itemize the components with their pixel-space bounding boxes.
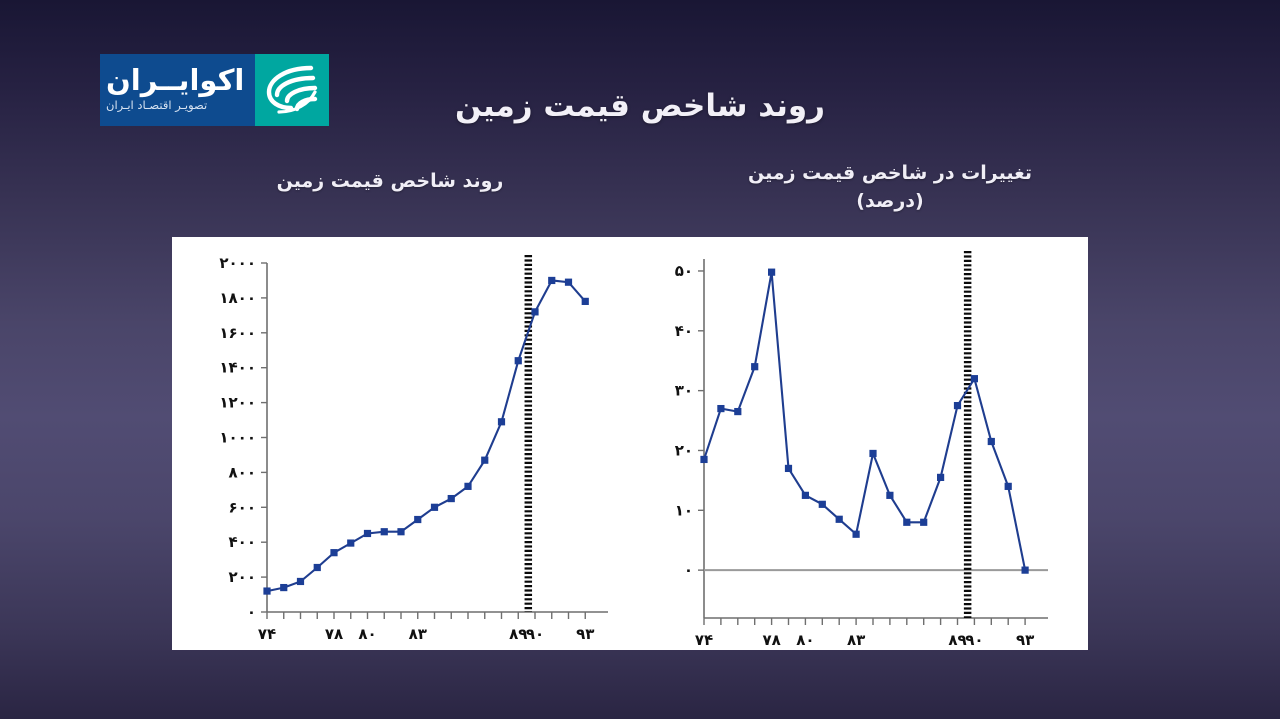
series-data-point <box>1005 483 1012 490</box>
y-tick-label: ۳۰ <box>675 382 693 400</box>
series-data-point <box>988 438 995 445</box>
x-tick-label: ۹۰ <box>965 631 983 649</box>
right-chart-title-line2: (درصد) <box>700 188 1080 216</box>
x-tick-label: ۸۰ <box>358 625 376 643</box>
series-data-point <box>397 528 404 535</box>
series-data-point <box>869 450 876 457</box>
series-data-point <box>751 363 758 370</box>
series-data-point <box>819 501 826 508</box>
series-data-point <box>886 492 893 499</box>
x-tick-label: ۷۴ <box>258 625 276 643</box>
series-line <box>704 272 1025 570</box>
y-tick-label: ۱۸۰۰ <box>219 289 256 307</box>
series-data-point <box>531 308 538 315</box>
y-tick-label: ۵۰ <box>675 262 693 280</box>
series-data-point <box>971 375 978 382</box>
x-tick-label: ۷۸ <box>762 631 780 649</box>
series-data-point <box>280 584 287 591</box>
y-tick-label: ۲۰۰۰ <box>219 254 256 272</box>
series-data-point <box>297 578 304 585</box>
y-tick-label: ۸۰۰ <box>229 463 256 481</box>
right-chart-title: تغییرات در شاخص قیمت زمین (درصد) <box>700 160 1080 215</box>
left-plot-svg: ۰۲۰۰۴۰۰۶۰۰۸۰۰۱۰۰۰۱۲۰۰۱۴۰۰۱۶۰۰۱۸۰۰۲۰۰۰۷۴۷… <box>172 237 642 650</box>
chart-land-price-index-change: ۰۱۰۲۰۳۰۴۰۵۰۷۴۷۸۸۰۸۳۸۹۹۰۹۳ <box>642 237 1088 650</box>
x-tick-label: ۷۴ <box>695 631 713 649</box>
series-data-point <box>768 269 775 276</box>
series-data-point <box>903 519 910 526</box>
series-data-point <box>364 530 371 537</box>
series-data-point <box>464 483 471 490</box>
series-data-point <box>381 528 388 535</box>
page-title: روند شاخص قیمت زمین <box>0 88 1280 124</box>
y-tick-label: ۱۴۰۰ <box>219 359 256 377</box>
series-data-point <box>1022 567 1029 574</box>
series-data-point <box>414 516 421 523</box>
series-data-point <box>330 549 337 556</box>
series-data-point <box>448 495 455 502</box>
x-tick-label: ۸۳ <box>847 631 865 649</box>
series-data-point <box>785 465 792 472</box>
y-tick-label: ۰ <box>684 561 693 579</box>
series-data-point <box>565 279 572 286</box>
series-data-point <box>920 519 927 526</box>
y-tick-label: ۴۰ <box>675 322 693 340</box>
x-tick-label: ۹۳ <box>576 625 594 643</box>
right-chart-title-line1: تغییرات در شاخص قیمت زمین <box>700 160 1080 188</box>
series-data-point <box>515 357 522 364</box>
x-tick-label: ۹۳ <box>1016 631 1034 649</box>
series-data-point <box>347 539 354 546</box>
series-data-point <box>548 277 555 284</box>
right-plot-svg: ۰۱۰۲۰۳۰۴۰۵۰۷۴۷۸۸۰۸۳۸۹۹۰۹۳ <box>642 237 1088 650</box>
x-tick-label: ۸۳ <box>409 625 427 643</box>
series-data-point <box>263 587 270 594</box>
series-data-point <box>481 457 488 464</box>
series-data-point <box>314 564 321 571</box>
y-tick-label: ۱۰۰۰ <box>219 429 256 447</box>
series-data-point <box>734 408 741 415</box>
x-tick-label: ۸۹ <box>509 625 527 643</box>
y-tick-label: ۱۲۰۰ <box>219 394 256 412</box>
y-tick-label: ۲۰ <box>675 441 693 459</box>
series-line <box>267 280 585 591</box>
x-tick-label: ۸۰ <box>796 631 814 649</box>
series-data-point <box>431 504 438 511</box>
x-tick-label: ۸۹ <box>948 631 966 649</box>
y-tick-label: ۰ <box>247 603 256 621</box>
series-data-point <box>582 298 589 305</box>
y-tick-label: ۶۰۰ <box>229 498 256 516</box>
series-data-point <box>802 492 809 499</box>
series-data-point <box>717 405 724 412</box>
series-data-point <box>853 531 860 538</box>
y-tick-label: ۴۰۰ <box>229 533 256 551</box>
charts-panel: ۰۲۰۰۴۰۰۶۰۰۸۰۰۱۰۰۰۱۲۰۰۱۴۰۰۱۶۰۰۱۸۰۰۲۰۰۰۷۴۷… <box>172 237 1088 650</box>
series-data-point <box>700 456 707 463</box>
x-tick-label: ۷۸ <box>325 625 343 643</box>
series-data-point <box>937 474 944 481</box>
y-tick-label: ۱۶۰۰ <box>219 324 256 342</box>
chart-land-price-index-trend: ۰۲۰۰۴۰۰۶۰۰۸۰۰۱۰۰۰۱۲۰۰۱۴۰۰۱۶۰۰۱۸۰۰۲۰۰۰۷۴۷… <box>172 237 642 650</box>
y-tick-label: ۲۰۰ <box>229 568 256 586</box>
series-data-point <box>954 402 961 409</box>
left-chart-title: روند شاخص قیمت زمین <box>215 168 565 196</box>
series-data-point <box>836 516 843 523</box>
series-data-point <box>498 418 505 425</box>
y-tick-label: ۱۰ <box>675 501 693 519</box>
x-tick-label: ۹۰ <box>526 625 544 643</box>
